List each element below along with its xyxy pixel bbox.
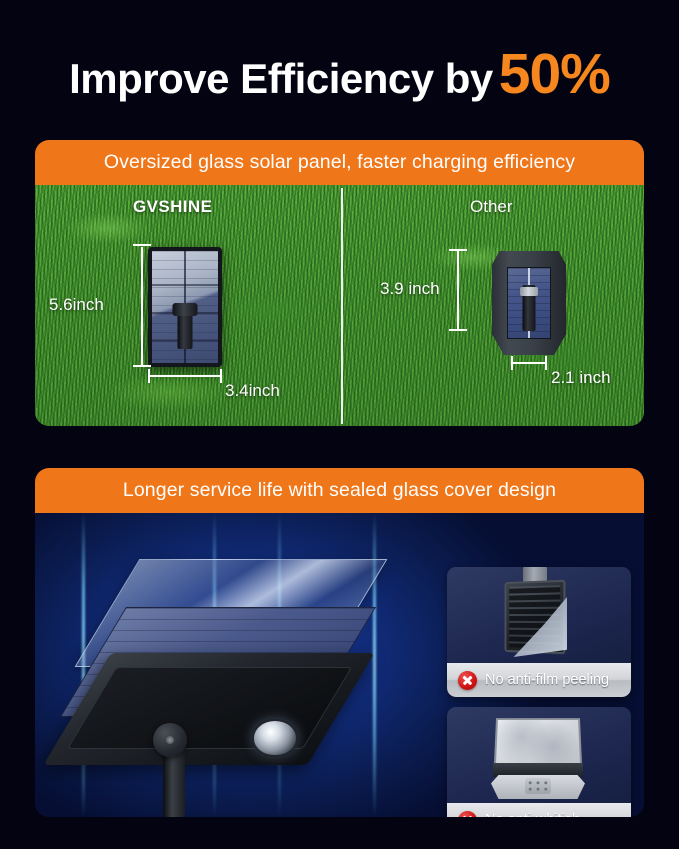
left-width-label: 3.4inch: [225, 381, 280, 401]
sealed-glass-banner-text: Longer service life with sealed glass co…: [123, 479, 556, 502]
left-width-cap-left: [148, 369, 150, 383]
right-width-cap-right: [545, 356, 547, 370]
left-height-cap-top: [133, 244, 151, 246]
comparison-banner-text: Oversized glass solar panel, faster char…: [104, 151, 575, 174]
grass-background: GVSHINE Other 5.6inch 3.4inch 3.9 inch: [35, 185, 644, 426]
led-array: [525, 778, 551, 794]
other-mount-collar: [520, 287, 538, 296]
right-height-cap-bottom: [449, 329, 467, 331]
inset-film-peeling: No anti-film peeling: [447, 567, 631, 697]
right-height-cap-top: [449, 249, 467, 251]
left-width-cap-right: [220, 369, 222, 383]
comparison-banner: Oversized glass solar panel, faster char…: [35, 140, 644, 185]
right-height-label: 3.9 inch: [380, 279, 440, 299]
caption-text-whitish: No anti-whitish: [485, 812, 580, 817]
caption-bar-film-peeling: No anti-film peeling: [447, 663, 631, 697]
panel-edge-band: [493, 763, 583, 777]
red-x-icon: [458, 671, 477, 690]
led-lens: [252, 719, 298, 757]
comparison-section: Oversized glass solar panel, faster char…: [35, 140, 644, 426]
left-width-line: [148, 375, 222, 377]
hinge-knob: [153, 723, 187, 757]
housing-inner-cavity: [67, 667, 352, 749]
left-height-cap-bottom: [133, 365, 151, 367]
caption-text-film-peeling: No anti-film peeling: [485, 672, 609, 688]
exploded-product-view: [57, 541, 397, 781]
whitened-panel-surface: [494, 718, 582, 765]
sealed-glass-section: Longer service life with sealed glass co…: [35, 468, 644, 817]
gvshine-mount-collar: [173, 303, 198, 316]
brand-label-other: Other: [470, 197, 513, 217]
page-headline: Improve Efficiency by50%: [0, 46, 679, 103]
inset-photo-film-peeling: [447, 567, 631, 663]
sealed-glass-body: No anti-film peeling No anti-whitish: [35, 513, 644, 817]
headline-accent-text: 50%: [499, 42, 610, 106]
comparison-divider: [341, 188, 343, 424]
headline-main-text: Improve Efficiency by: [69, 55, 493, 102]
caption-bar-whitish: No anti-whitish: [447, 803, 631, 817]
right-width-line: [511, 362, 547, 364]
brand-label-gvshine: GVSHINE: [133, 197, 212, 217]
right-height-line: [457, 251, 459, 331]
left-height-label: 5.6inch: [49, 295, 104, 315]
inset-photo-whitish: [447, 707, 631, 803]
red-x-icon: [458, 811, 477, 818]
inset-whitish: No anti-whitish: [447, 707, 631, 817]
left-height-line: [141, 247, 143, 367]
right-width-cap-left: [511, 356, 513, 370]
sealed-glass-banner: Longer service life with sealed glass co…: [35, 468, 644, 513]
right-width-label: 2.1 inch: [551, 368, 611, 388]
